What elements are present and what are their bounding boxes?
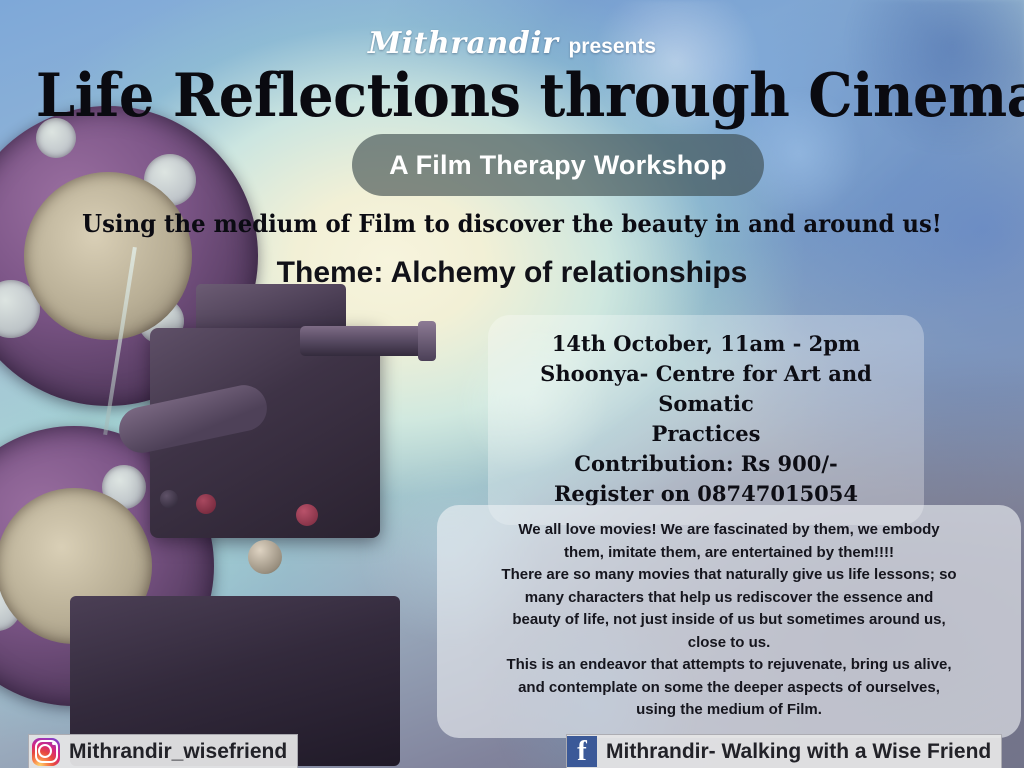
description-line: We all love movies! We are fascinated by… xyxy=(459,519,999,542)
event-detail-line: Practices xyxy=(506,419,906,449)
projector-lens-icon xyxy=(300,326,428,356)
event-details-box: 14th October, 11am - 2pm Shoonya- Centre… xyxy=(488,315,924,525)
poster-canvas: Mithrandirpresents Life Reflections thro… xyxy=(0,0,1024,768)
projector-knob-red xyxy=(296,504,318,526)
description-line: using the medium of Film. xyxy=(459,699,999,722)
instagram-icon xyxy=(32,738,60,766)
event-detail-line: 14th October, 11am - 2pm xyxy=(506,329,906,359)
poster-title: Life Reflections through Cinema... xyxy=(36,62,988,130)
projector-knob-silver xyxy=(248,540,282,574)
workshop-subtitle-pill: A Film Therapy Workshop xyxy=(352,134,764,196)
projector-knob-red-secondary xyxy=(196,494,216,514)
workshop-subtitle-label: A Film Therapy Workshop xyxy=(389,150,727,181)
description-line: many characters that help us rediscover … xyxy=(459,587,999,610)
brand-presents-label: presents xyxy=(568,35,656,58)
description-line: This is an endeavor that attempts to rej… xyxy=(459,654,999,677)
description-line: close to us. xyxy=(459,632,999,655)
brand-line: Mithrandirpresents xyxy=(0,26,1024,61)
poster-tagline: Using the medium of Film to discover the… xyxy=(26,209,999,238)
description-box: We all love movies! We are fascinated by… xyxy=(437,505,1021,738)
instagram-handle-label: Mithrandir_wisefriend xyxy=(69,740,287,764)
brand-name: Mithrandir xyxy=(368,26,559,61)
description-line: There are so many movies that naturally … xyxy=(459,564,999,587)
projector-knob-dark xyxy=(160,490,178,508)
poster-theme: Theme: Alchemy of relationships xyxy=(0,256,1024,290)
facebook-page-strip[interactable]: f Mithrandir- Walking with a Wise Friend xyxy=(566,734,1002,768)
description-line: beauty of life, not just inside of us bu… xyxy=(459,609,999,632)
description-line: and contemplate on some the deeper aspec… xyxy=(459,677,999,700)
description-line: them, imitate them, are entertained by t… xyxy=(459,542,999,565)
event-detail-line: Contribution: Rs 900/- xyxy=(506,449,906,479)
film-projector-illustration xyxy=(0,96,430,768)
facebook-page-label: Mithrandir- Walking with a Wise Friend xyxy=(606,740,991,764)
event-detail-line: Shoonya- Centre for Art and Somatic xyxy=(506,359,906,419)
instagram-handle-strip[interactable]: Mithrandir_wisefriend xyxy=(28,734,298,768)
facebook-icon: f xyxy=(567,736,597,767)
